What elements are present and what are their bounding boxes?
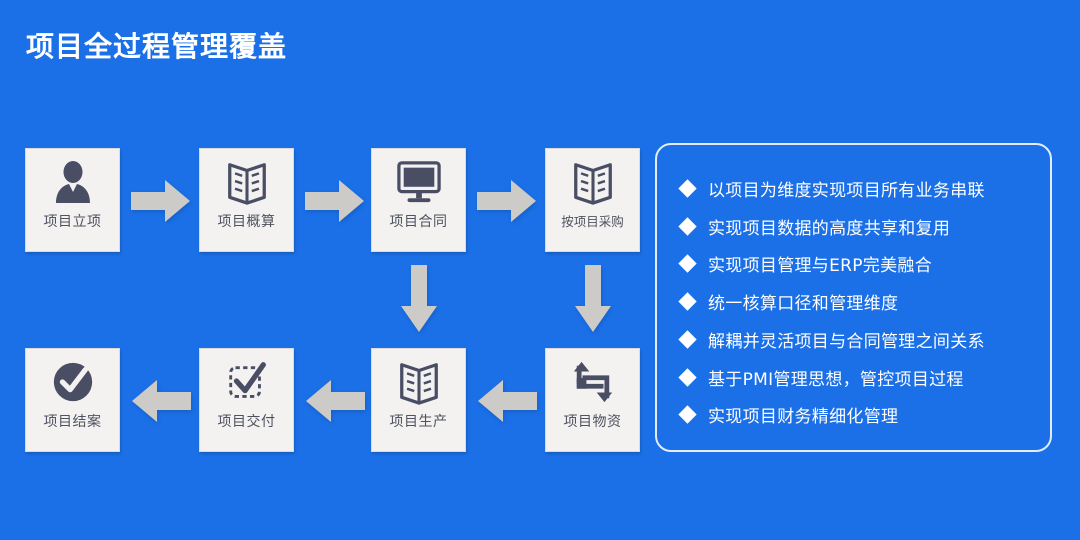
- benefit-text: 统一核算口径和管理维度: [708, 289, 898, 314]
- benefits-panel: 以项目为维度实现项目所有业务串联 实现项目数据的高度共享和复用 实现项目管理与E…: [655, 143, 1052, 452]
- flow-step-label: 项目物资: [564, 411, 622, 431]
- page-title: 项目全过程管理覆盖: [26, 30, 287, 64]
- flow-step-project-procurement[interactable]: 按项目采购: [545, 148, 640, 252]
- list-item: 实现项目财务精细化管理: [681, 402, 1040, 427]
- diamond-bullet-icon: [678, 292, 696, 310]
- arrow-left-icon: [131, 377, 191, 425]
- person-icon: [26, 149, 119, 211]
- list-item: 以项目为维度实现项目所有业务串联: [681, 176, 1040, 201]
- diamond-bullet-icon: [678, 255, 696, 273]
- diamond-bullet-icon: [678, 330, 696, 348]
- flow-step-label: 项目概算: [218, 211, 276, 231]
- flow-step-label: 项目结案: [44, 411, 102, 431]
- monitor-icon: [372, 149, 465, 211]
- benefit-text: 基于PMI管理思想，管控项目过程: [708, 365, 964, 390]
- diamond-bullet-icon: [678, 406, 696, 424]
- list-item: 基于PMI管理思想，管控项目过程: [681, 365, 1040, 390]
- arrow-left-icon: [477, 377, 537, 425]
- arrow-down-icon: [574, 265, 612, 333]
- flow-step-project-materials[interactable]: 项目物资: [545, 348, 640, 452]
- benefit-text: 以项目为维度实现项目所有业务串联: [708, 176, 985, 201]
- open-book-icon: [200, 149, 293, 211]
- check-circle-icon: [26, 349, 119, 411]
- arrow-right-icon: [477, 177, 537, 225]
- list-item: 实现项目管理与ERP完美融合: [681, 251, 1040, 276]
- list-item: 统一核算口径和管理维度: [681, 289, 1040, 314]
- flow-step-project-budget[interactable]: 项目概算: [199, 148, 294, 252]
- flow-step-label: 项目交付: [218, 411, 276, 431]
- list-item: 解耦并灵活项目与合同管理之间关系: [681, 327, 1040, 352]
- dashed-check-icon: [200, 349, 293, 411]
- flow-step-project-initiation[interactable]: 项目立项: [25, 148, 120, 252]
- flow-step-label: 项目合同: [390, 211, 448, 231]
- arrow-right-icon: [131, 177, 191, 225]
- diamond-bullet-icon: [678, 217, 696, 235]
- cycle-arrows-icon: [546, 349, 639, 411]
- flow-step-label: 项目生产: [390, 411, 448, 431]
- benefit-text: 实现项目管理与ERP完美融合: [708, 251, 932, 276]
- flow-step-project-contract[interactable]: 项目合同: [371, 148, 466, 252]
- diamond-bullet-icon: [678, 179, 696, 197]
- arrow-right-icon: [305, 177, 365, 225]
- open-book-icon: [372, 349, 465, 411]
- arrow-left-icon: [305, 377, 365, 425]
- list-item: 实现项目数据的高度共享和复用: [681, 214, 1040, 239]
- benefit-text: 解耦并灵活项目与合同管理之间关系: [708, 327, 985, 352]
- benefit-text: 实现项目财务精细化管理: [708, 402, 898, 427]
- flow-step-label: 项目立项: [44, 211, 102, 231]
- flow-step-project-production[interactable]: 项目生产: [371, 348, 466, 452]
- arrow-down-icon: [400, 265, 438, 333]
- flow-step-project-delivery[interactable]: 项目交付: [199, 348, 294, 452]
- flow-step-label: 按项目采购: [561, 211, 624, 230]
- benefit-text: 实现项目数据的高度共享和复用: [708, 214, 950, 239]
- diamond-bullet-icon: [678, 368, 696, 386]
- open-book-icon: [546, 149, 639, 211]
- flow-step-project-closure[interactable]: 项目结案: [25, 348, 120, 452]
